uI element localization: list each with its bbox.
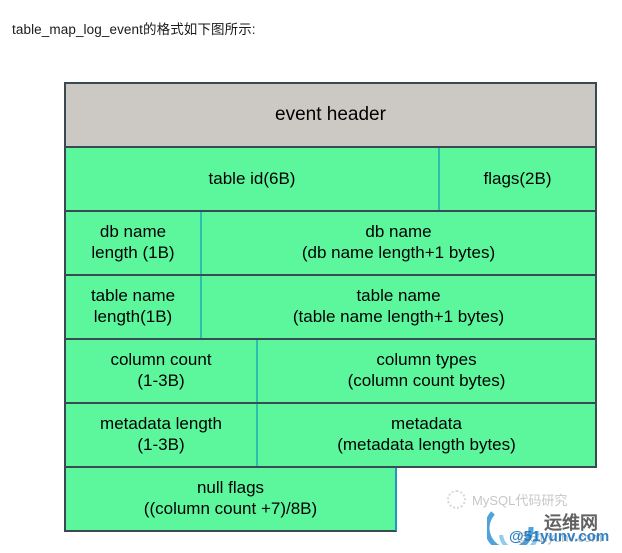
table-name-line2: (table name length+1 bytes) (293, 307, 504, 328)
metadata-cell: metadata (metadata length bytes) (258, 404, 595, 466)
column-types-cell: column types (column count bytes) (258, 340, 595, 402)
metadata-length-line2: (1-3B) (100, 435, 222, 456)
column-count-cell: column count (1-3B) (66, 340, 258, 402)
column-types-line2: (column count bytes) (348, 371, 506, 392)
table-name-length-line1: table name (91, 286, 175, 305)
metadata-line1: metadata (391, 414, 462, 433)
db-name-row: db name length (1B) db name (db name len… (66, 212, 597, 276)
flags-cell: flags(2B) (440, 148, 595, 210)
table-name-cell: table name (table name length+1 bytes) (202, 276, 595, 338)
db-name-length-line2: length (1B) (91, 243, 174, 264)
db-name-line1: db name (365, 222, 431, 241)
db-name-length-line1: db name (100, 222, 166, 241)
null-flags-line2: ((column count +7)/8B) (144, 499, 317, 520)
db-name-line2: (db name length+1 bytes) (302, 243, 495, 264)
table-name-length-line2: length(1B) (91, 307, 175, 328)
column-count-row: column count (1-3B) column types (column… (66, 340, 597, 404)
null-flags-cell: null flags ((column count +7)/8B) (66, 468, 395, 530)
column-count-line1: column count (110, 350, 211, 369)
table-name-length-cell: table name length(1B) (66, 276, 202, 338)
metadata-line2: (metadata length bytes) (337, 435, 516, 456)
metadata-row: metadata length (1-3B) metadata (metadat… (66, 404, 597, 468)
db-name-cell: db name (db name length+1 bytes) (202, 212, 595, 274)
table-map-log-event-format-diagram: event header table id(6B) flags(2B) db n… (64, 82, 597, 532)
table-id-flags-row: table id(6B) flags(2B) (66, 148, 597, 212)
null-flags-line1: null flags (197, 478, 264, 497)
table-name-line1: table name (356, 286, 440, 305)
table-name-row: table name length(1B) table name (table … (66, 276, 597, 340)
column-count-line2: (1-3B) (110, 371, 211, 392)
watermark-yunwei-url-ghost: @51lyunv.com (517, 530, 602, 545)
metadata-length-cell: metadata length (1-3B) (66, 404, 258, 466)
metadata-length-line1: metadata length (100, 414, 222, 433)
column-types-line1: column types (376, 350, 476, 369)
null-flags-row: null flags ((column count +7)/8B) (66, 468, 397, 532)
event-header-row: event header (66, 84, 597, 148)
page-title: table_map_log_event的格式如下图所示: (12, 18, 256, 38)
db-name-length-cell: db name length (1B) (66, 212, 202, 274)
event-header-cell: event header (66, 84, 595, 146)
table-id-cell: table id(6B) (66, 148, 440, 210)
